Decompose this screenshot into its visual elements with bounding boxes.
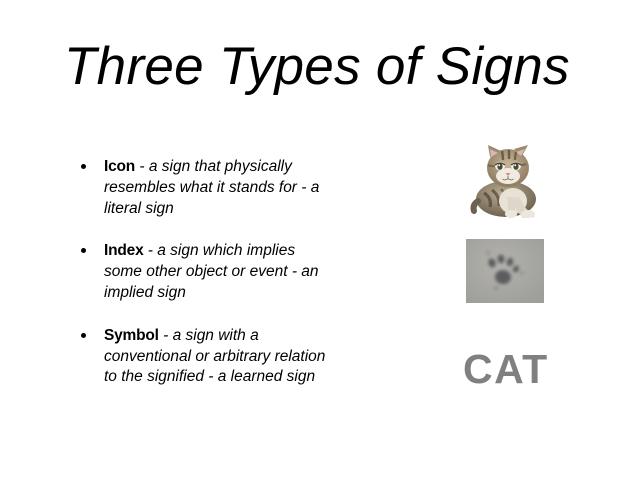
bullet-dot-icon xyxy=(81,333,86,338)
list-item: Symbol - a sign with a conventional or a… xyxy=(72,326,332,388)
cat-word-label: CAT xyxy=(463,349,549,390)
bullet-dot-icon xyxy=(81,164,86,169)
media-column: CAT xyxy=(455,140,625,410)
list-item-lead: Icon xyxy=(104,158,135,175)
list-item-lead: Symbol xyxy=(104,327,159,344)
list-item: Index - a sign which implies some other … xyxy=(72,241,332,303)
page-title: Three Types of Signs xyxy=(64,38,584,96)
list-item-body: - a sign that physically resembles what … xyxy=(104,158,319,217)
pawprint-photo xyxy=(466,239,544,303)
bullet-dot-icon xyxy=(81,248,86,253)
list-item: Icon - a sign that physically resembles … xyxy=(72,157,332,219)
bullet-list: Icon - a sign that physically resembles … xyxy=(72,157,332,388)
kitten-photo xyxy=(464,143,556,219)
list-item-lead: Index xyxy=(104,242,143,259)
presentation-slide: Three Types of Signs Icon - a sign that … xyxy=(0,0,638,479)
